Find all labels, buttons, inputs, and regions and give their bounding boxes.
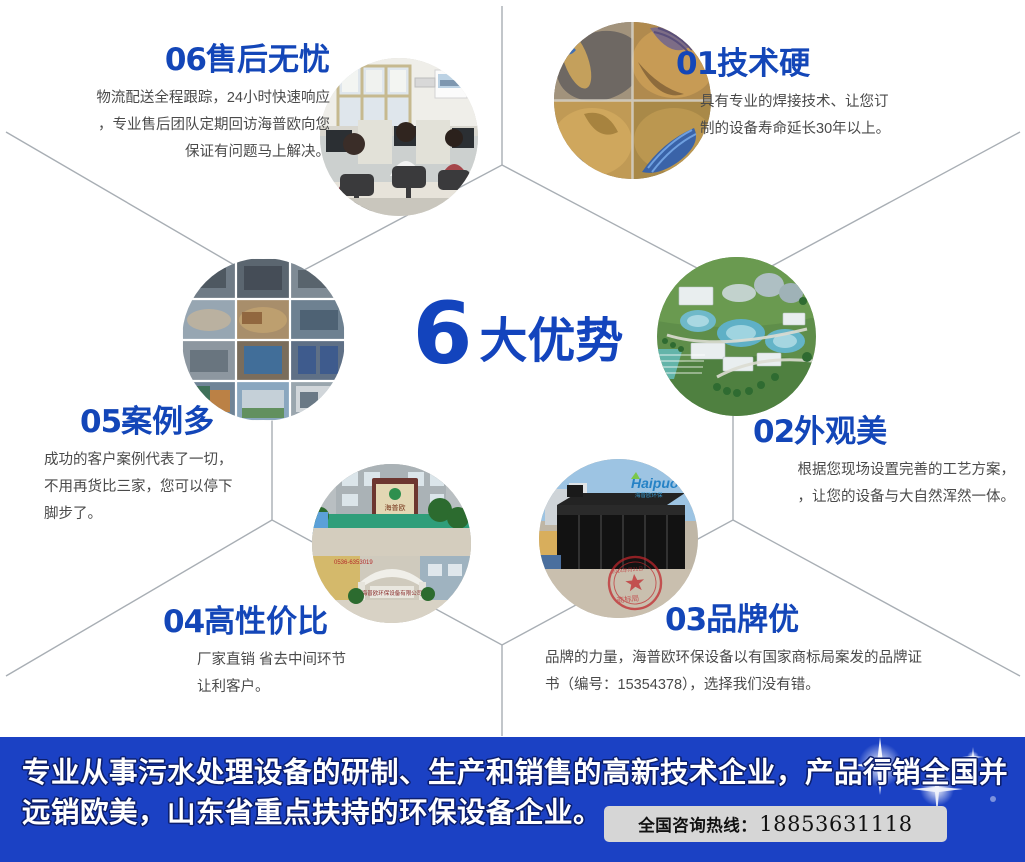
advantage-03-heading: 03品牌优 bbox=[665, 604, 1015, 636]
bottom-banner: 专业从事污水处理设备的研制、生产和销售的高新技术企业，产品行销全国并 远销欧美，… bbox=[0, 737, 1025, 862]
center-headline: 6 大优势 bbox=[398, 288, 638, 384]
svg-text:Haipuou: Haipuou bbox=[631, 475, 687, 491]
advantage-05-line-1: 成功的客户案例代表了一切， bbox=[44, 447, 410, 474]
svg-text:海普欧环保设备有限公司: 海普欧环保设备有限公司 bbox=[362, 589, 423, 597]
advantage-05-body: 成功的客户案例代表了一切， 不用再货比三家，您可以停下 脚步了。 bbox=[44, 447, 410, 527]
svg-text:0536-6353019: 0536-6353019 bbox=[334, 560, 373, 566]
advantage-05-number: 05 bbox=[80, 404, 121, 440]
advantage-04-line-1: 厂家直销 省去中间环节 bbox=[197, 647, 493, 674]
hotline-label: 全国咨询热线： bbox=[638, 812, 757, 836]
hotline-number: 18853631118 bbox=[759, 812, 913, 836]
advantage-03-line-2: 书（编号：15354378），选择我们没有错。 bbox=[545, 672, 1015, 699]
advantage-06-heading: 06售后无忧 bbox=[18, 44, 330, 76]
photo-05-case-collage bbox=[182, 258, 345, 421]
photo-03-black-equipment-tank: Haipuou 海普欧环保 商标局 2014年月21日 bbox=[539, 459, 698, 618]
advantage-04-body: 厂家直销 省去中间环节 让利客户。 bbox=[197, 647, 493, 701]
advantage-06-text: 06售后无忧 物流配送全程跟踪，24小时快速响应 ，专业售后团队定期回访海普欧向… bbox=[18, 44, 330, 165]
advantage-01-text: 01技术硬 具有专业的焊接技术、让您订 制的设备寿命延长30年以上。 bbox=[676, 48, 1006, 143]
advantage-04-number: 04 bbox=[163, 604, 204, 640]
center-suffix: 大优势 bbox=[479, 318, 623, 366]
svg-text:海普欧环保: 海普欧环保 bbox=[635, 491, 663, 499]
advantage-03-title: 品牌优 bbox=[706, 602, 799, 637]
advantage-02-heading: 02外观美 bbox=[753, 416, 1015, 448]
advantage-05-line-2: 不用再货比三家，您可以停下 bbox=[44, 474, 410, 501]
advantage-06-line-2: ，专业售后团队定期回访海普欧向您 bbox=[18, 112, 330, 139]
photo-02-aerial-treatment-plant bbox=[657, 257, 816, 416]
advantage-05-line-3: 脚步了。 bbox=[44, 501, 410, 528]
advantage-02-line-1: 根据您现场设置完善的工艺方案， bbox=[690, 457, 1015, 484]
advantage-01-number: 01 bbox=[676, 46, 717, 82]
advantage-03-text: 03品牌优 品牌的力量，海普欧环保设备以有国家商标局案发的品牌证 书（编号：15… bbox=[545, 604, 1015, 699]
advantage-06-number: 06 bbox=[165, 42, 206, 78]
advantage-06-title: 售后无忧 bbox=[206, 42, 330, 77]
advantage-04-line-2: 让利客户。 bbox=[197, 674, 493, 701]
advantage-01-body: 具有专业的焊接技术、让您订 制的设备寿命延长30年以上。 bbox=[700, 89, 1006, 143]
advantage-03-line-1: 品牌的力量，海普欧环保设备以有国家商标局案发的品牌证 bbox=[545, 645, 1015, 672]
advantage-02-line-2: ，让您的设备与大自然浑然一体。 bbox=[690, 484, 1015, 511]
advantage-06-line-1: 物流配送全程跟踪，24小时快速响应 bbox=[18, 85, 330, 112]
advantage-03-body: 品牌的力量，海普欧环保设备以有国家商标局案发的品牌证 书（编号：15354378… bbox=[545, 645, 1015, 699]
infographic-root: Haipuou 海普欧环保 商标局 2014年月21日 bbox=[0, 0, 1025, 862]
hotline-box[interactable]: 全国咨询热线： 18853631118 bbox=[604, 806, 947, 842]
advantage-03-number: 03 bbox=[665, 602, 706, 638]
advantage-02-body: 根据您现场设置完善的工艺方案， ，让您的设备与大自然浑然一体。 bbox=[690, 457, 1015, 511]
advantage-01-heading: 01技术硬 bbox=[676, 48, 1006, 80]
advantage-02-text: 02外观美 根据您现场设置完善的工艺方案， ，让您的设备与大自然浑然一体。 bbox=[690, 416, 1015, 511]
advantage-05-heading: 05案例多 bbox=[80, 406, 410, 438]
center-number: 6 bbox=[413, 291, 471, 377]
banner-line-1: 专业从事污水处理设备的研制、生产和销售的高新技术企业，产品行销全国并 bbox=[22, 753, 782, 793]
advantage-01-line-1: 具有专业的焊接技术、让您订 bbox=[700, 89, 1006, 116]
advantage-05-title: 案例多 bbox=[121, 404, 214, 439]
advantage-02-title: 外观美 bbox=[794, 414, 887, 449]
photo-06-office-staff bbox=[320, 58, 478, 216]
advantage-04-title: 高性价比 bbox=[204, 604, 328, 639]
advantage-01-line-2: 制的设备寿命延长30年以上。 bbox=[700, 116, 1006, 143]
advantage-05-text: 05案例多 成功的客户案例代表了一切， 不用再货比三家，您可以停下 脚步了。 bbox=[80, 406, 410, 527]
advantage-02-number: 02 bbox=[753, 414, 794, 450]
advantage-06-line-3: 保证有问题马上解决。 bbox=[18, 139, 330, 166]
advantage-06-body: 物流配送全程跟踪，24小时快速响应 ，专业售后团队定期回访海普欧向您 保证有问题… bbox=[18, 85, 330, 165]
advantage-04-heading: 04高性价比 bbox=[163, 606, 493, 638]
advantage-01-title: 技术硬 bbox=[717, 46, 810, 81]
advantage-04-text: 04高性价比 厂家直销 省去中间环节 让利客户。 bbox=[163, 606, 493, 701]
